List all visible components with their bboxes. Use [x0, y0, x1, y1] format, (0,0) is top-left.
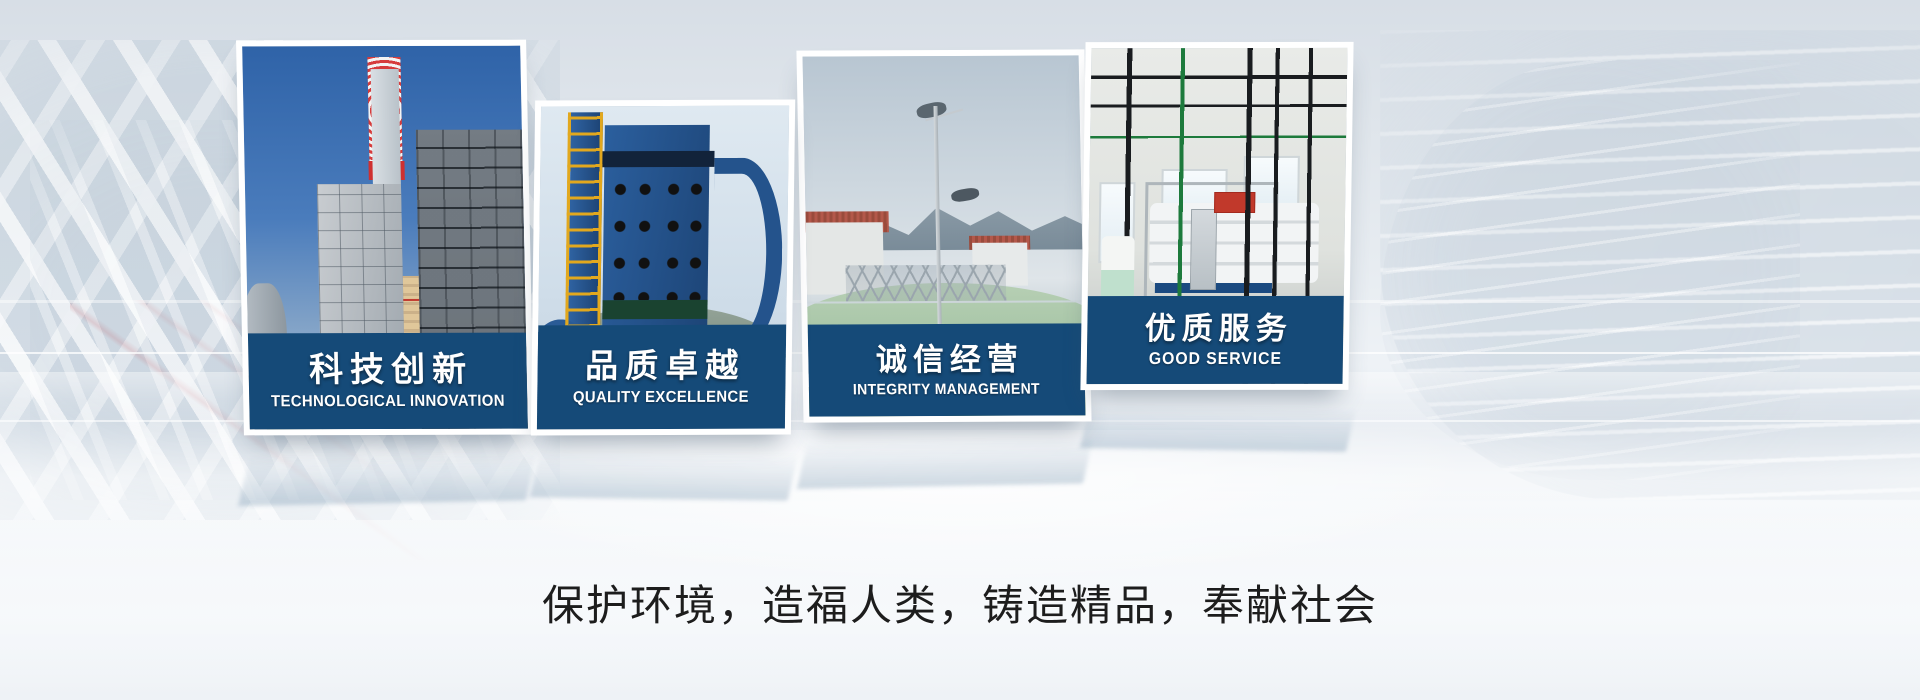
panel-4-title-en: GOOD SERVICE: [1148, 349, 1281, 369]
panel-2-title-cn: 品质卓越: [578, 347, 746, 386]
panel-3-title-cn: 诚信经营: [869, 342, 1025, 379]
panel-4-title-cn: 优质服务: [1138, 310, 1294, 346]
panel-good-service[interactable]: 优质服务 GOOD SERVICE: [1080, 42, 1353, 390]
panel-3-title-en: INTEGRITY MANAGEMENT: [853, 381, 1040, 399]
panel-2-title-en: QUALITY EXCELLENCE: [573, 388, 749, 407]
banner-tagline: 保护环境，造福人类，铸造精品，奉献社会: [0, 572, 1920, 633]
panel-quality-excellence[interactable]: 品质卓越 QUALITY EXCELLENCE: [531, 100, 795, 436]
panel-1-title-cn: 科技创新: [302, 351, 474, 391]
panel-1-caption: 科技创新 TECHNOLOGICAL INNOVATION: [248, 333, 528, 430]
panel-integrity-management[interactable]: 诚信经营 INTEGRITY MANAGEMENT: [796, 49, 1091, 422]
panel-1-title-en: TECHNOLOGICAL INNOVATION: [271, 393, 505, 412]
panel-technological-innovation[interactable]: 科技创新 TECHNOLOGICAL INNOVATION: [236, 40, 534, 436]
banner-stage: 科技创新 TECHNOLOGICAL INNOVATION: [0, 0, 1920, 700]
panel-3-caption: 诚信经营 INTEGRITY MANAGEMENT: [808, 323, 1086, 416]
panel-2-caption: 品质卓越 QUALITY EXCELLENCE: [537, 325, 786, 430]
panel-4-caption: 优质服务 GOOD SERVICE: [1086, 296, 1343, 384]
